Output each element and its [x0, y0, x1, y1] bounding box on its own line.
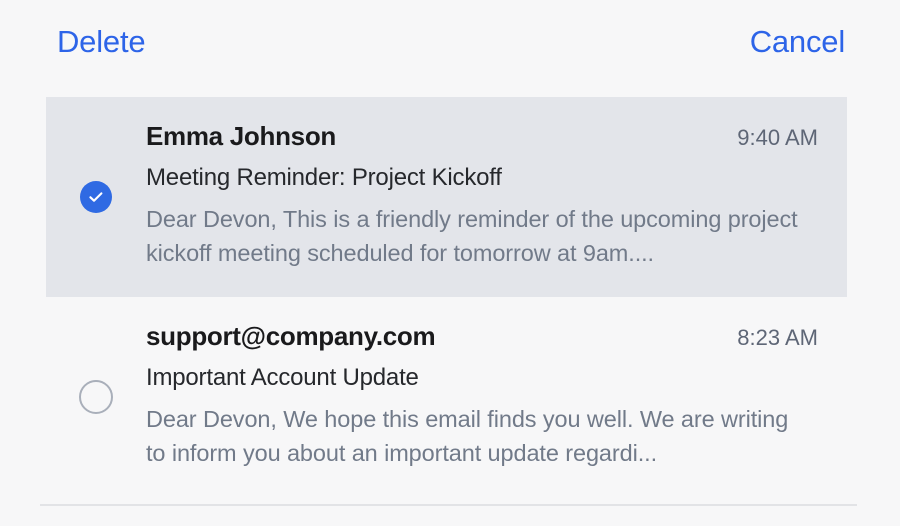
email-preview: Dear Devon, We hope this email finds you… — [146, 402, 806, 471]
email-list-item[interactable]: Emma Johnson 9:40 AM Meeting Reminder: P… — [46, 97, 847, 297]
email-header-line: Emma Johnson 9:40 AM — [146, 121, 818, 152]
email-timestamp: 9:40 AM — [737, 125, 818, 151]
email-content: support@company.com 8:23 AM Important Ac… — [146, 319, 847, 471]
circle-empty-icon[interactable] — [79, 380, 113, 414]
list-divider — [40, 504, 857, 506]
email-timestamp: 8:23 AM — [737, 325, 818, 351]
email-content: Emma Johnson 9:40 AM Meeting Reminder: P… — [146, 119, 847, 271]
email-sender: support@company.com — [146, 321, 435, 352]
delete-button[interactable]: Delete — [57, 26, 145, 57]
select-checkbox-cell[interactable] — [46, 319, 146, 475]
email-preview: Dear Devon, This is a friendly reminder … — [146, 202, 806, 271]
email-list-screen: { "colors": { "accent": "#2d64e8", "chec… — [0, 0, 900, 526]
email-list: Emma Johnson 9:40 AM Meeting Reminder: P… — [0, 97, 900, 497]
email-list-item[interactable]: support@company.com 8:23 AM Important Ac… — [46, 297, 847, 497]
email-sender: Emma Johnson — [146, 121, 336, 152]
email-header-line: support@company.com 8:23 AM — [146, 321, 818, 352]
cancel-button[interactable]: Cancel — [750, 26, 845, 57]
email-subject: Meeting Reminder: Project Kickoff — [146, 163, 818, 193]
email-subject: Important Account Update — [146, 363, 818, 393]
check-circle-filled-icon[interactable] — [80, 181, 112, 213]
select-checkbox-cell[interactable] — [46, 119, 146, 275]
action-bar: Delete Cancel — [0, 0, 900, 82]
